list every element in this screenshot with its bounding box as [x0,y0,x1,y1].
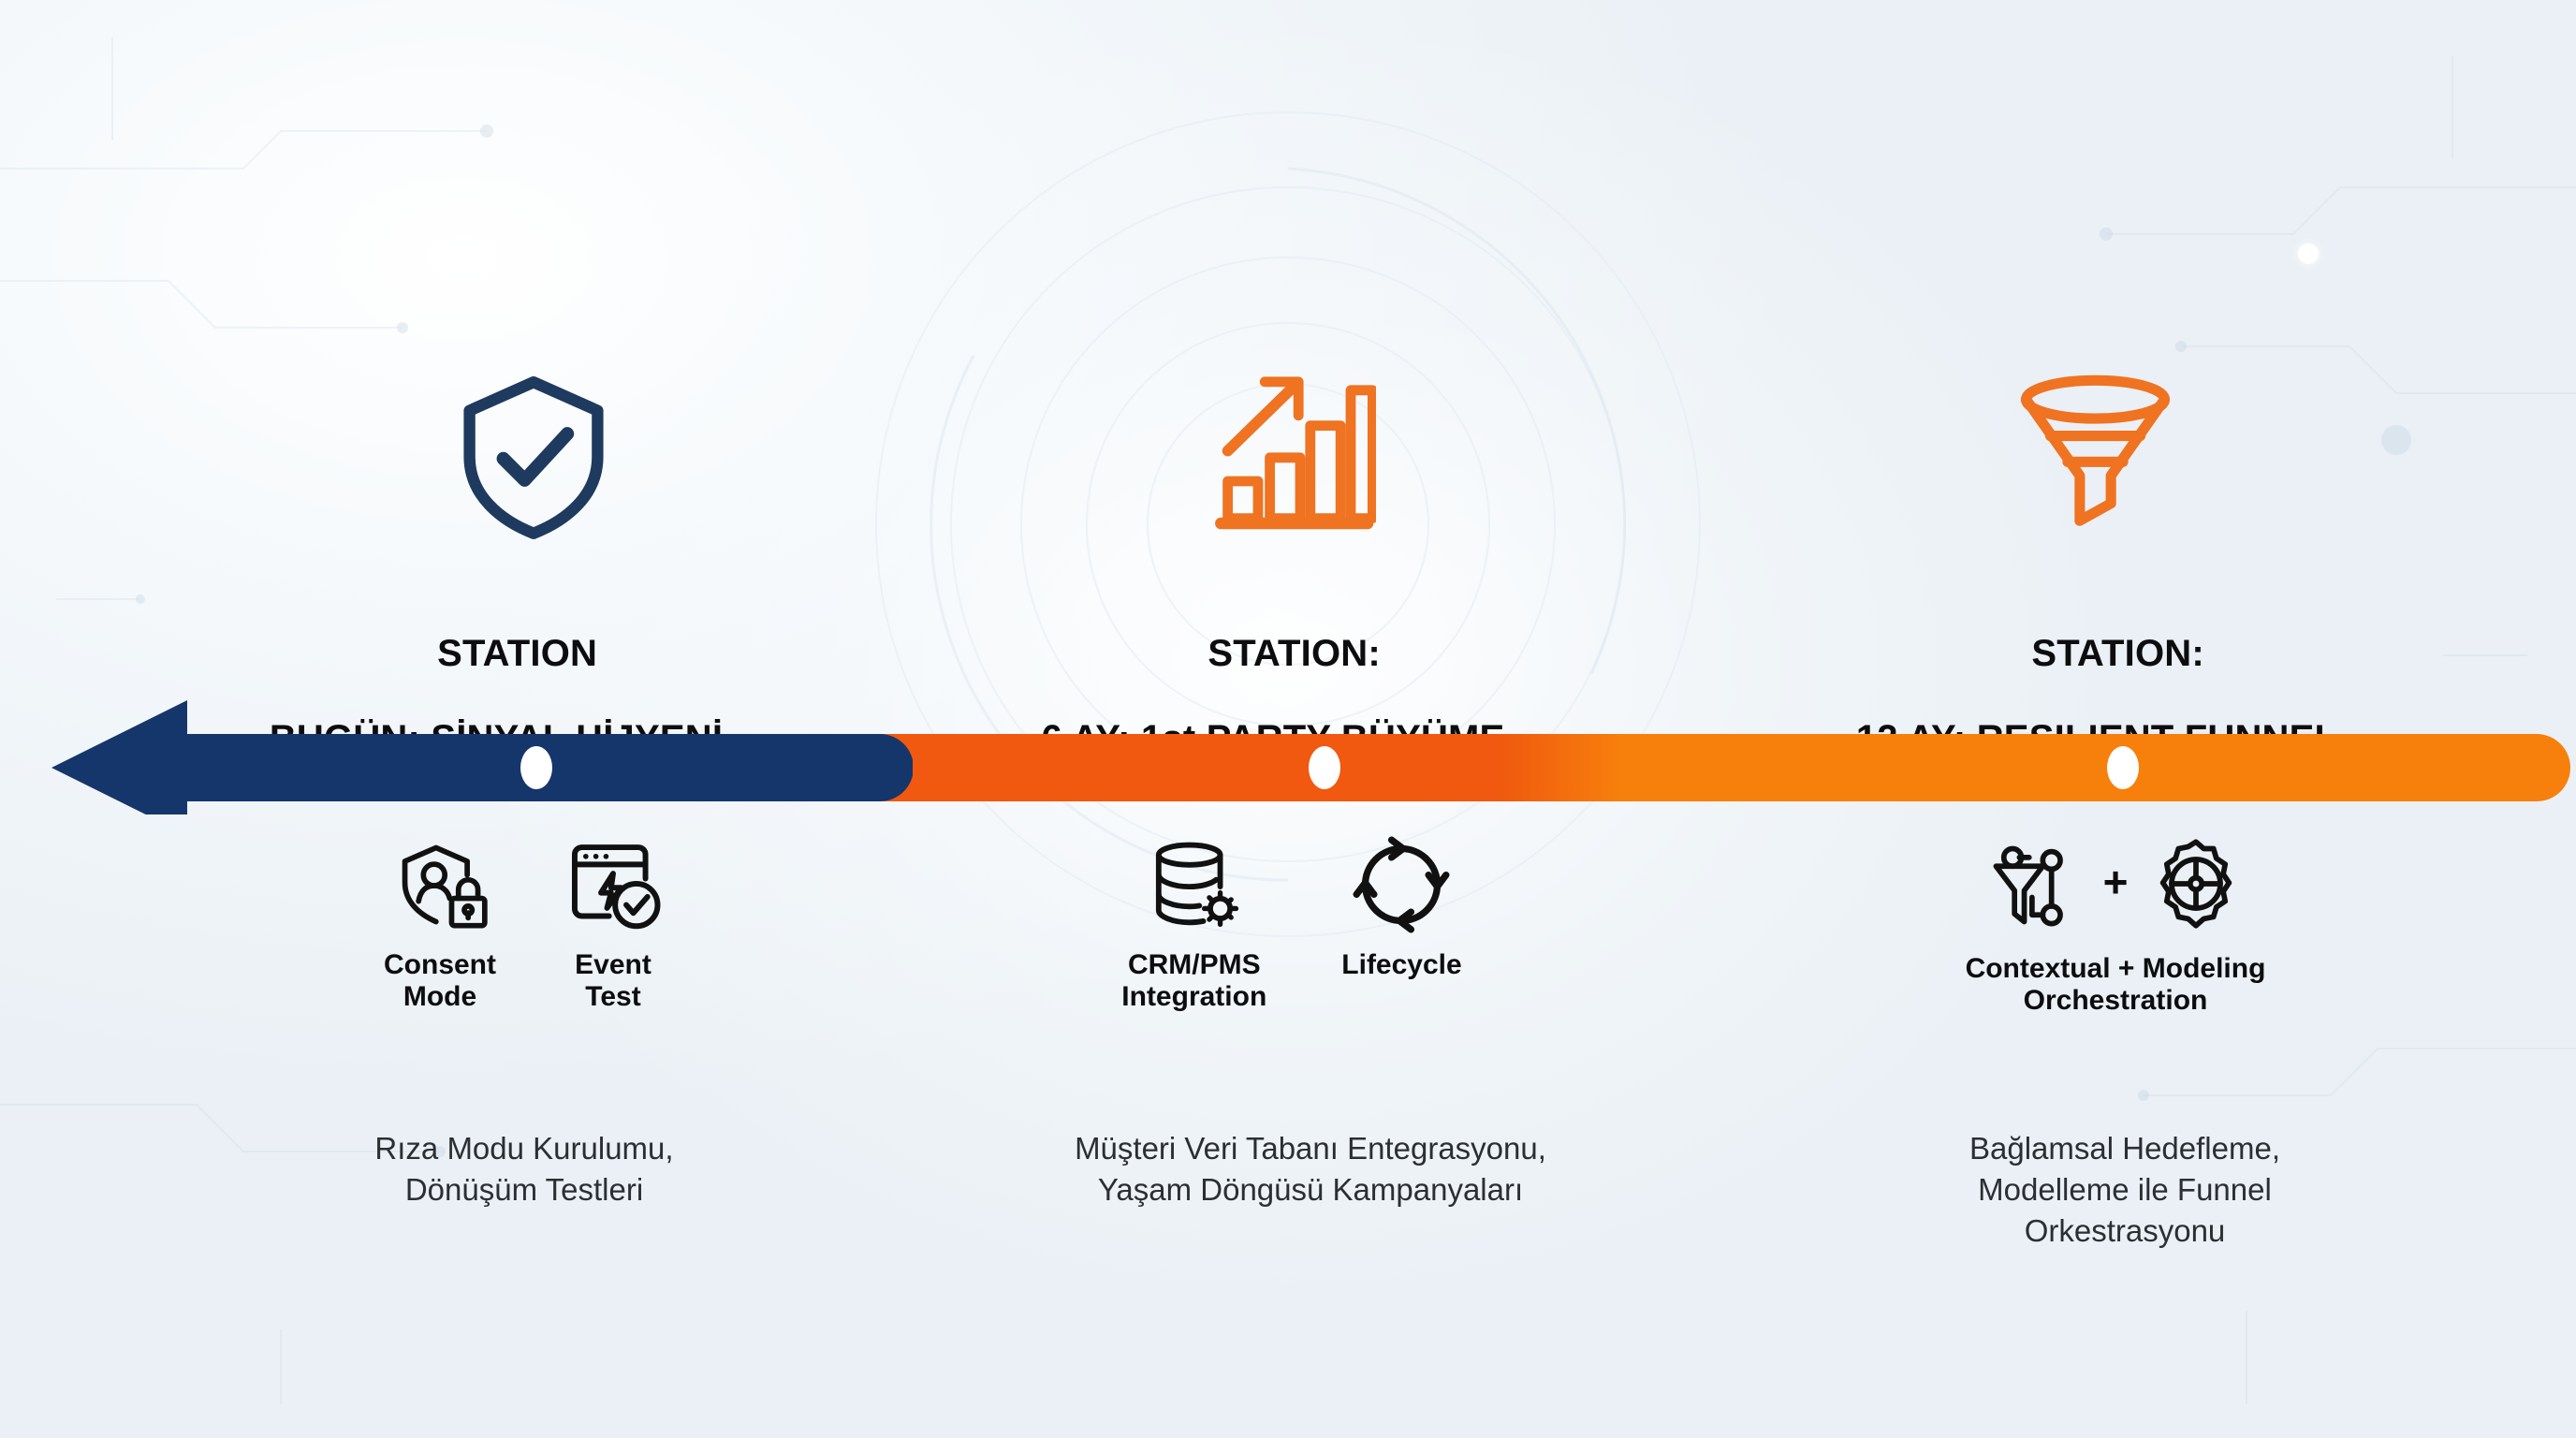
station-2-description: Müşteri Veri Tabanı Entegrasyonu, Yaşam … [899,1128,1722,1211]
marker-station-3 [2107,746,2139,789]
station-1-item-event-test-label: Event Test [575,949,651,1013]
station-2-items: CRM/PMS Integration Lifecycle [1067,833,1516,1013]
timeline-segment-navy [51,700,914,814]
shield-check-icon [440,363,627,550]
station-2-item-crm-pms[interactable]: CRM/PMS Integration [1121,833,1266,1013]
station-title-1-line1: STATION [437,633,597,674]
station-2-item-lifecycle-label: Lifecycle [1341,949,1461,981]
station-1-items: Consent Mode Event Test [281,833,768,1013]
database-gear-icon [1143,833,1246,936]
funnel-icon [2001,354,2188,541]
funnel-nodes-icon[interactable] [1983,833,2086,936]
browser-lightning-check-icon [562,833,665,936]
station-1-item-consent-mode[interactable]: Consent Mode [384,833,496,1013]
station-3-description: Bağlamsal Hedefleme, Modelleme ile Funne… [1807,1128,2443,1252]
marker-station-1 [520,746,552,789]
timeline-segment-orange [842,734,2570,801]
station-title-2-line1: STATION: [1207,633,1381,674]
station-3-items: + Contextual + Modeling Orchestration [1844,833,2387,1017]
marker-station-2 [1309,746,1340,789]
station-3-icon-combo: + [1983,833,2248,936]
station-2-item-lifecycle[interactable]: Lifecycle [1341,833,1461,981]
station-2-item-crm-pms-label: CRM/PMS Integration [1121,949,1266,1013]
station-1-item-consent-mode-label: Consent Mode [384,949,496,1013]
infographic-canvas: STATION BUGÜN: SİNYAL HİJYENİ STATION: 6… [0,0,2576,1438]
plus-separator: + [2103,860,2129,909]
station-3-items-label: Contextual + Modeling Orchestration [1966,953,2266,1017]
station-1-item-event-test[interactable]: Event Test [562,833,665,1013]
timeline-arrow [0,693,2576,814]
gear-target-icon[interactable] [2144,833,2247,936]
station-1-description: Rıza Modu Kurulumu, Dönüşüm Testleri [168,1128,880,1211]
cycle-arrows-icon [1350,833,1453,936]
station-title-3-line1: STATION: [2031,633,2204,674]
growth-bar-chart-icon [1198,354,1385,541]
shield-person-lock-icon [388,833,491,936]
